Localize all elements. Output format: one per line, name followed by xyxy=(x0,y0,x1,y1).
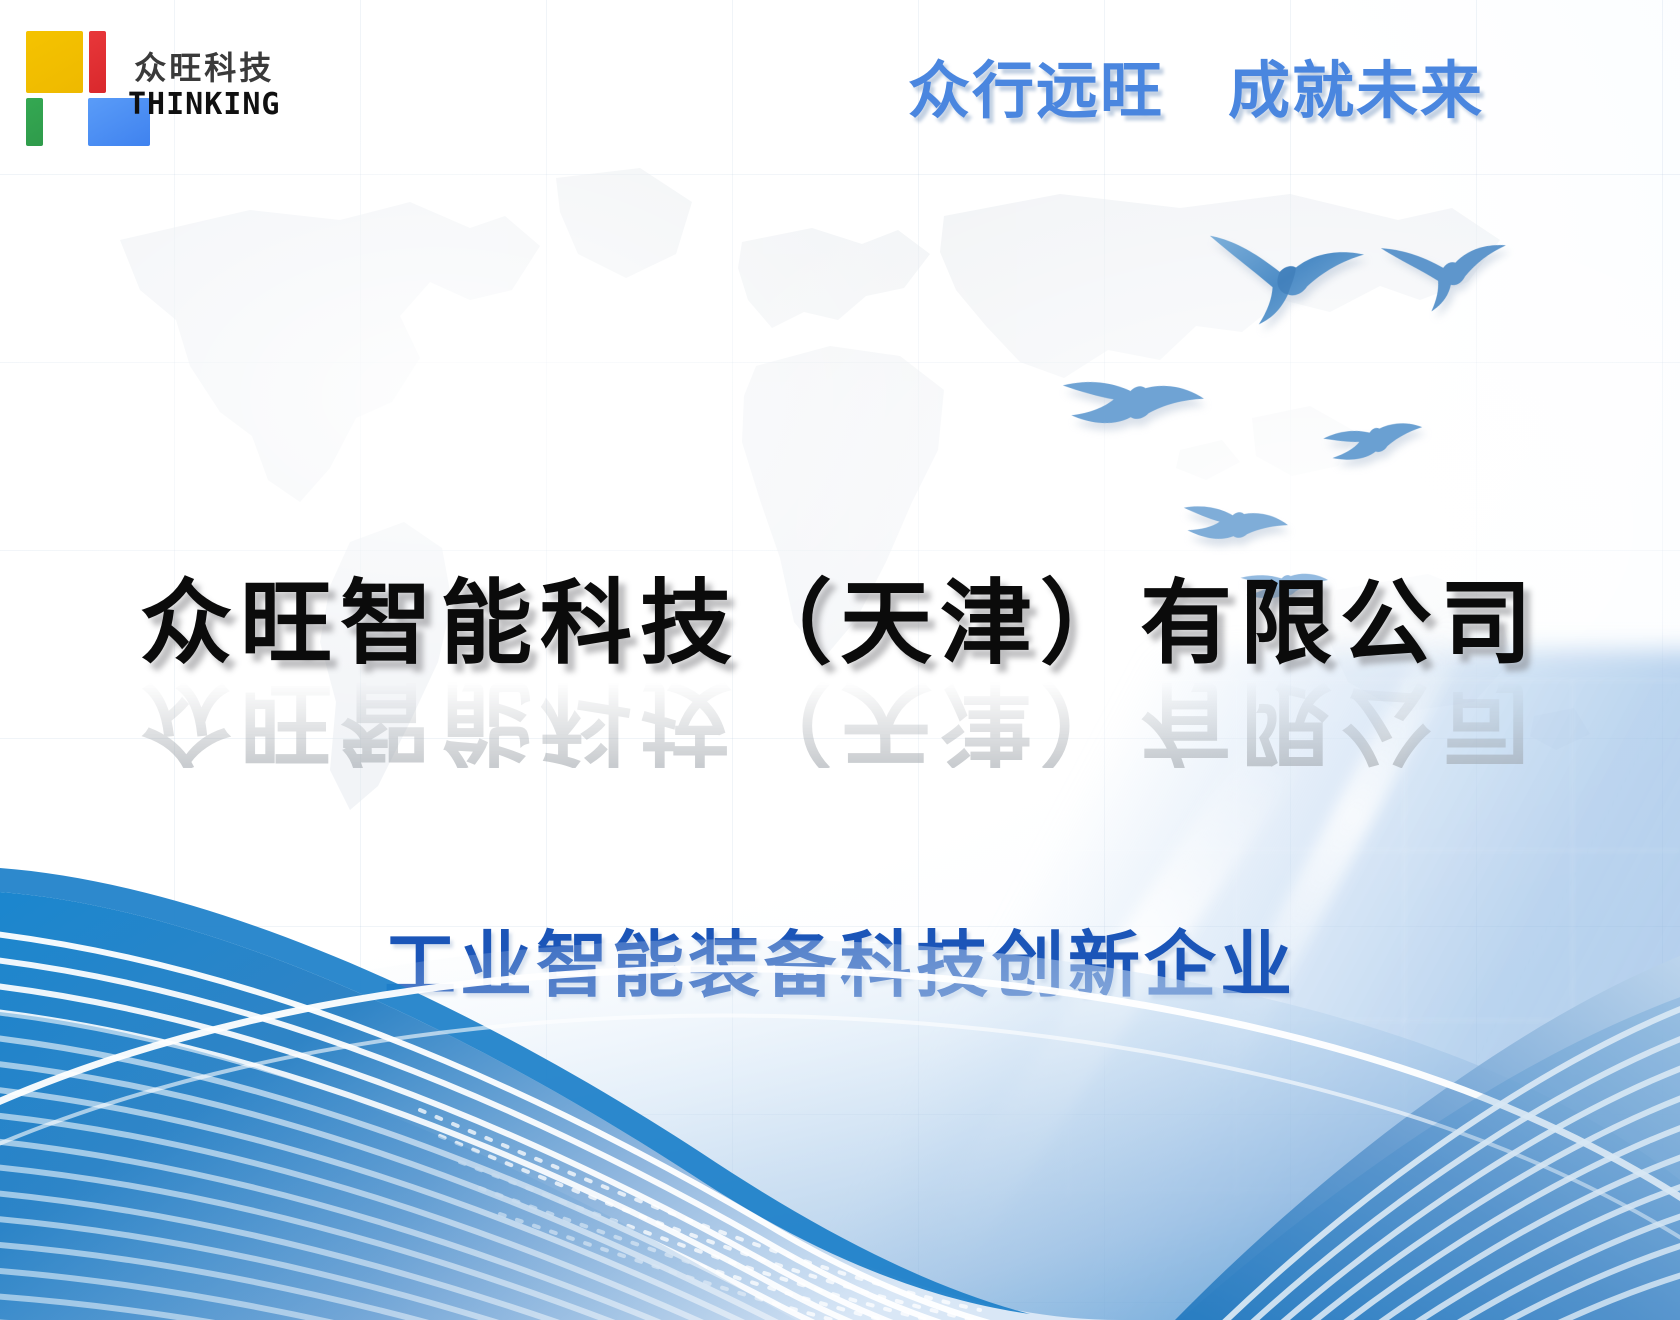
logo-english-name: THINKING xyxy=(128,90,281,120)
page-title-reflection: 众旺智能科技（天津）有限公司 xyxy=(0,676,1680,768)
page-title: 众旺智能科技（天津）有限公司 xyxy=(0,578,1680,670)
logo-green-block xyxy=(26,98,43,146)
logo-chinese-name: 众旺科技 xyxy=(134,52,274,84)
logo-color-blocks xyxy=(26,31,106,141)
header-tagline: 众行远旺 成就未来 xyxy=(908,58,1484,123)
title-block: 众旺智能科技（天津）有限公司 众旺智能科技（天津）有限公司 xyxy=(0,578,1680,768)
logo-red-block xyxy=(89,31,106,93)
logo-yellow-block xyxy=(26,31,83,93)
wave-decoration xyxy=(0,780,1680,1320)
logo-wordmark: 众旺科技 THINKING xyxy=(128,31,281,141)
slide-canvas: 众旺科技 THINKING 众行远旺 成就未来 xyxy=(0,0,1680,1320)
company-logo[interactable]: 众旺科技 THINKING xyxy=(26,31,281,141)
